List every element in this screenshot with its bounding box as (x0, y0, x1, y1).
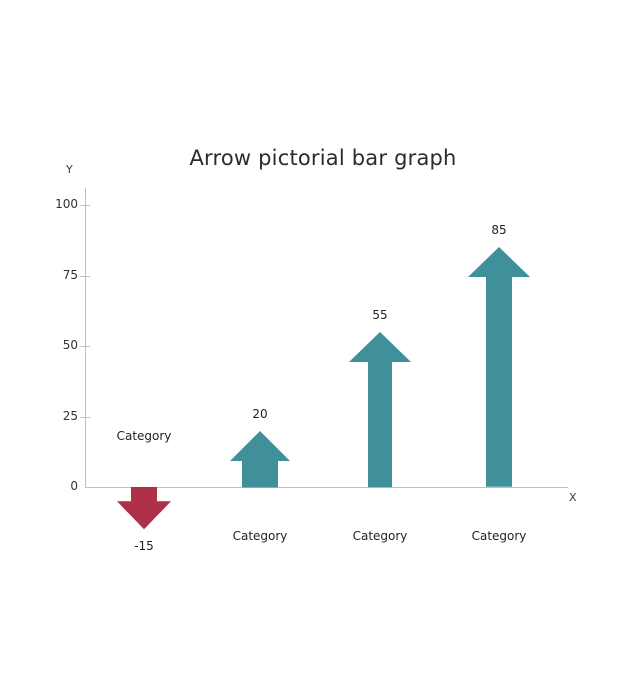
category-label-1: Category (117, 429, 172, 443)
y-tick-mark (80, 276, 90, 277)
category-label-2: Category (233, 529, 288, 543)
value-label-4: 85 (491, 223, 506, 237)
y-axis-label: Y (66, 163, 73, 176)
category-label-3: Category (353, 529, 408, 543)
y-tick-label: 50 (42, 338, 78, 352)
arrow-shape (468, 247, 530, 487)
x-axis-label: X (569, 491, 577, 504)
arrow-shape (349, 332, 411, 487)
y-tick-label: 100 (42, 197, 78, 211)
y-axis-line (85, 188, 86, 488)
y-tick-mark (80, 346, 90, 347)
y-tick-label: 25 (42, 409, 78, 423)
chart-title: Arrow pictorial bar graph (0, 146, 640, 170)
value-label-2: 20 (252, 407, 267, 421)
y-tick-label: 75 (42, 268, 78, 282)
arrow-shape (117, 487, 171, 529)
arrow-shape (230, 431, 290, 487)
value-label-3: 55 (372, 308, 387, 322)
value-label-1: -15 (134, 539, 154, 553)
category-label-4: Category (472, 529, 527, 543)
y-tick-label: 0 (42, 479, 78, 493)
y-tick-mark (80, 205, 90, 206)
y-tick-mark (80, 417, 90, 418)
chart-canvas: Arrow pictorial bar graph Y X 0255075100… (0, 0, 640, 687)
